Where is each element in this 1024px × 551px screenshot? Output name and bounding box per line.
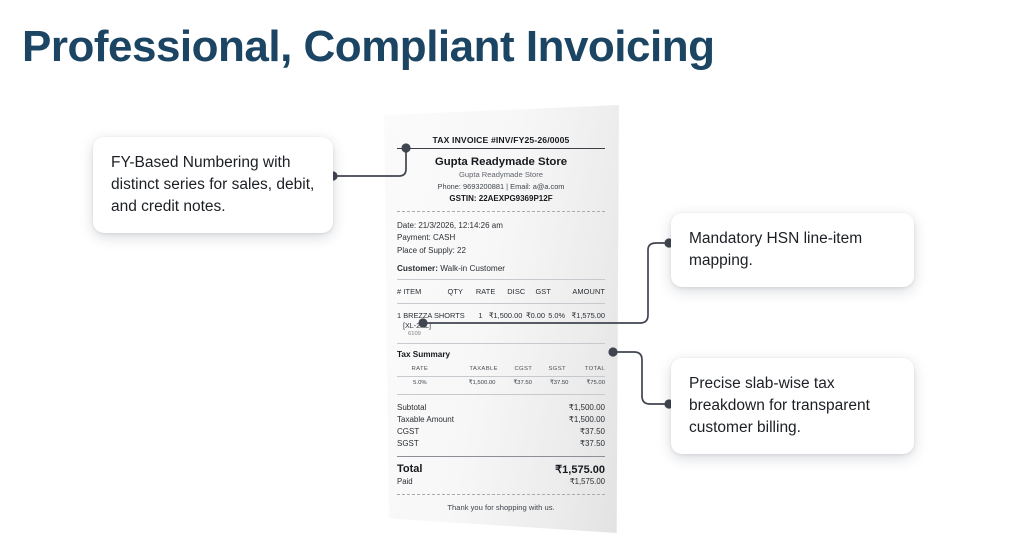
line-items-table: # ITEM QTY RATE DISC GST AMOUNT	[397, 286, 605, 297]
col-qty: QTY	[437, 286, 463, 297]
receipt-meta-block: Date: 21/3/2026, 12:14:26 am Payment: CA…	[397, 220, 605, 257]
receipt-customer-row: Customer: Walk-in Customer	[397, 264, 605, 273]
summary-value-subtotal: ₹1,500.00	[524, 401, 605, 413]
col-item: # ITEM	[397, 286, 437, 297]
summary-label-taxable-amount: Taxable Amount	[397, 413, 524, 425]
tax-col-taxable: TAXABLE	[443, 364, 498, 375]
table-row: Paid ₹1,575.00	[397, 477, 605, 486]
tax-col-cgst: CGST	[498, 364, 532, 375]
tax-total: ₹75.00	[568, 377, 605, 388]
item-hsn-code: 6109	[397, 330, 605, 337]
total-row: Total ₹1,575.00	[397, 463, 605, 476]
tax-col-rate: RATE	[397, 364, 443, 375]
callout-tax-breakdown: Precise slab-wise tax breakdown for tran…	[671, 358, 914, 454]
summary-label-sgst: SGST	[397, 438, 524, 450]
tax-summary-body: 5.0% ₹1,500.00 ₹37.50 ₹37.50 ₹75.00	[397, 377, 605, 388]
tax-summary-table: RATE TAXABLE CGST SGST TOTAL	[397, 364, 605, 375]
receipt-store-subtitle: Gupta Readymade Store	[397, 170, 605, 179]
summary-value-cgst: ₹37.50	[524, 426, 605, 438]
table-row: 1 BREZZA SHORTS 1 ₹1,500.00 ₹0.00 5.0% ₹…	[397, 310, 605, 321]
table-row: SGST ₹37.50	[397, 438, 605, 450]
item-variant: [XL-2XL]	[397, 321, 605, 330]
tax-summary-title: Tax Summary	[397, 350, 605, 359]
receipt-payment: Payment: CASH	[397, 232, 605, 244]
item-index: 1	[397, 311, 401, 320]
receipt-contact-line: Phone: 9693200881 | Email: a@a.com	[397, 182, 605, 191]
paid-label: Paid	[397, 477, 461, 486]
summary-label-cgst: CGST	[397, 426, 524, 438]
tax-cgst: ₹37.50	[495, 377, 532, 388]
item-gst: 5.0%	[545, 310, 565, 321]
item-amount: ₹1,575.00	[565, 310, 605, 321]
divider-above-tax-summary	[397, 343, 605, 344]
receipt-footer-message: Thank you for shopping with us.	[397, 503, 605, 512]
line-items-body: 1 BREZZA SHORTS 1 ₹1,500.00 ₹0.00 5.0% ₹…	[397, 310, 605, 321]
table-row: Taxable Amount ₹1,500.00	[397, 413, 605, 425]
col-amount: AMOUNT	[551, 286, 605, 297]
tax-col-sgst: SGST	[532, 364, 566, 375]
divider-under-invoice-number	[397, 148, 605, 149]
divider-under-items-header	[397, 303, 605, 304]
tax-header-row: RATE TAXABLE CGST SGST TOTAL	[397, 364, 605, 375]
col-gst: GST	[525, 286, 551, 297]
item-name: BREZZA SHORTS	[403, 311, 464, 320]
receipt-invoice-number: TAX INVOICE #INV/FY25-26/0005	[397, 135, 605, 145]
divider-above-total	[397, 456, 605, 457]
table-row: 5.0% ₹1,500.00 ₹37.50 ₹37.50 ₹75.00	[397, 377, 605, 388]
receipt-customer-label: Customer:	[397, 264, 438, 273]
page-title: Professional, Compliant Invoicing	[22, 22, 714, 72]
callout-fy-based-numbering: FY-Based Numbering with distinct series …	[93, 137, 333, 233]
col-rate: RATE	[463, 286, 495, 297]
tax-rate: 5.0%	[397, 377, 443, 388]
total-value: ₹1,575.00	[467, 463, 605, 476]
invoice-receipt: TAX INVOICE #INV/FY25-26/0005 Gupta Read…	[383, 105, 619, 533]
tax-sgst: ₹37.50	[532, 377, 569, 388]
divider-above-footer	[397, 494, 605, 495]
item-qty: 1	[478, 310, 483, 321]
paid-value: ₹1,575.00	[461, 477, 605, 486]
summary-value-sgst: ₹37.50	[524, 438, 605, 450]
tax-col-total: TOTAL	[566, 364, 605, 375]
receipt-gstin: GSTIN: 22AEXPG9369P12F	[397, 194, 605, 203]
divider-above-summary	[397, 394, 605, 395]
col-disc: DISC	[495, 286, 525, 297]
receipt-store-name: Gupta Readymade Store	[397, 156, 605, 168]
item-rate: ₹1,500.00	[482, 310, 522, 321]
callout-hsn-mapping: Mandatory HSN line-item mapping.	[671, 213, 914, 287]
receipt-container: TAX INVOICE #INV/FY25-26/0005 Gupta Read…	[383, 105, 619, 533]
tax-taxable: ₹1,500.00	[443, 377, 496, 388]
summary-table: Subtotal ₹1,500.00 Taxable Amount ₹1,500…	[397, 401, 605, 450]
receipt-date: Date: 21/3/2026, 12:14:26 am	[397, 220, 605, 232]
receipt-place-of-supply: Place of Supply: 22	[397, 245, 605, 257]
item-disc: ₹0.00	[522, 310, 545, 321]
summary-value-taxable-amount: ₹1,500.00	[524, 413, 605, 425]
table-row: Subtotal ₹1,500.00	[397, 401, 605, 413]
line-items-header-row: # ITEM QTY RATE DISC GST AMOUNT	[397, 286, 605, 297]
paid-row: Paid ₹1,575.00	[397, 477, 605, 486]
receipt-customer-value: Walk-in Customer	[440, 264, 505, 273]
connector-path-3	[614, 352, 668, 404]
divider-above-items	[397, 279, 605, 280]
total-label: Total	[397, 463, 467, 476]
item-name-cell: 1 BREZZA SHORTS	[397, 310, 478, 321]
summary-label-subtotal: Subtotal	[397, 401, 524, 413]
table-row: Total ₹1,575.00	[397, 463, 605, 476]
divider-dashed-header	[397, 211, 605, 212]
table-row: CGST ₹37.50	[397, 426, 605, 438]
